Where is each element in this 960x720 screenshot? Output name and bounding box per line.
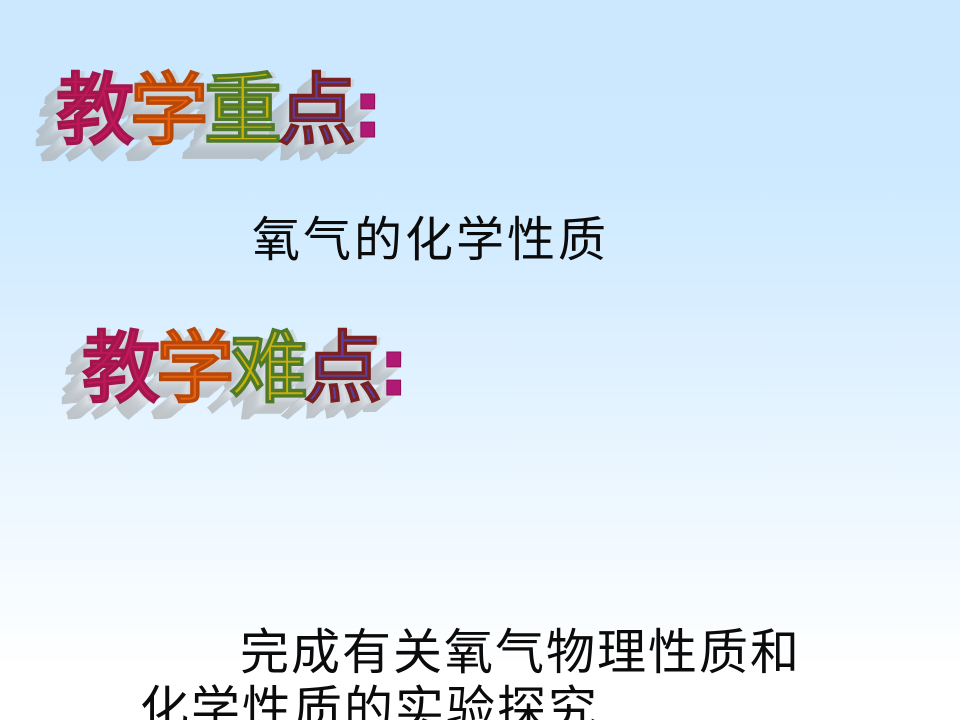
wordart-glyph: 点 [304,330,378,408]
difficulty-body-text: 完成有关氧气物理性质和化学性质的实验探究 [140,508,900,720]
wordart-glyph-colon: : [352,72,379,150]
heading-wordart-emphasis: 教学重点: 教学重点: [56,72,379,150]
wordart-glyph: 重 [204,72,278,150]
difficulty-body-line-1: 完成有关氧气物理性质和 [140,624,900,682]
heading-wordart-difficulty: 教学难点: 教学难点: [82,330,405,408]
wordart-glyph: 教 [82,330,156,408]
wordart-face-difficulty: 教学难点: [82,324,405,414]
difficulty-body-line-2: 化学性质的实验探究 [140,681,900,720]
wordart-glyph: 难 [230,330,304,408]
wordart-stack: 教学重点: 教学重点: [56,72,379,150]
presentation-slide: 教学重点: 教学重点: 氧气的化学性质 教学难点: 教学难点: 完成有关氧气物理… [0,0,960,720]
wordart-glyph: 点 [278,72,352,150]
wordart-stack: 教学难点: 教学难点: [82,330,405,408]
wordart-glyph: 教 [56,72,130,150]
wordart-glyph: 学 [156,330,230,408]
emphasis-body-text: 氧气的化学性质 [252,212,609,269]
wordart-glyph: 学 [130,72,204,150]
wordart-glyph-colon: : [378,330,405,408]
wordart-face-emphasis: 教学重点: [56,66,379,156]
